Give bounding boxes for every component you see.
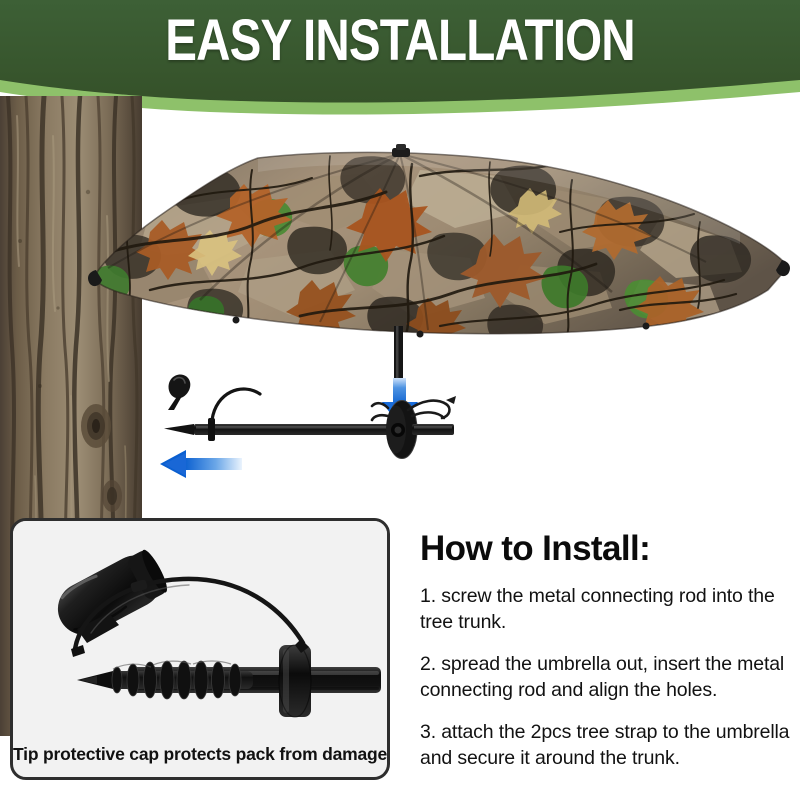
bark-knot-2 [102, 480, 122, 512]
stop-collar [279, 645, 311, 717]
install-step-2: 2. spread the umbrella out, insert the m… [420, 652, 790, 703]
tether-strap [212, 389, 260, 420]
instructions-block: How to Install: 1. screw the metal conne… [420, 528, 790, 771]
inset-product-image [13, 521, 387, 735]
install-heading: How to Install: [420, 528, 790, 570]
umbrella-finial [392, 144, 410, 157]
screw-tip [164, 424, 194, 435]
rod-assembly-diagram [150, 330, 480, 505]
bark-knot [81, 404, 111, 448]
page-title: EASY INSTALLATION [72, 12, 728, 70]
arrow-left-icon [160, 450, 242, 478]
inset-caption: Tip protective cap protects pack from da… [13, 744, 387, 765]
metal-connecting-rod [164, 375, 456, 459]
inset-panel: Tip protective cap protects pack from da… [10, 518, 390, 780]
install-step-1: 1. screw the metal connecting rod into t… [420, 584, 790, 635]
product-infographic: EASY INSTALLATION [0, 0, 800, 800]
install-step-3: 3. attach the 2pcs tree strap to the umb… [420, 720, 790, 771]
